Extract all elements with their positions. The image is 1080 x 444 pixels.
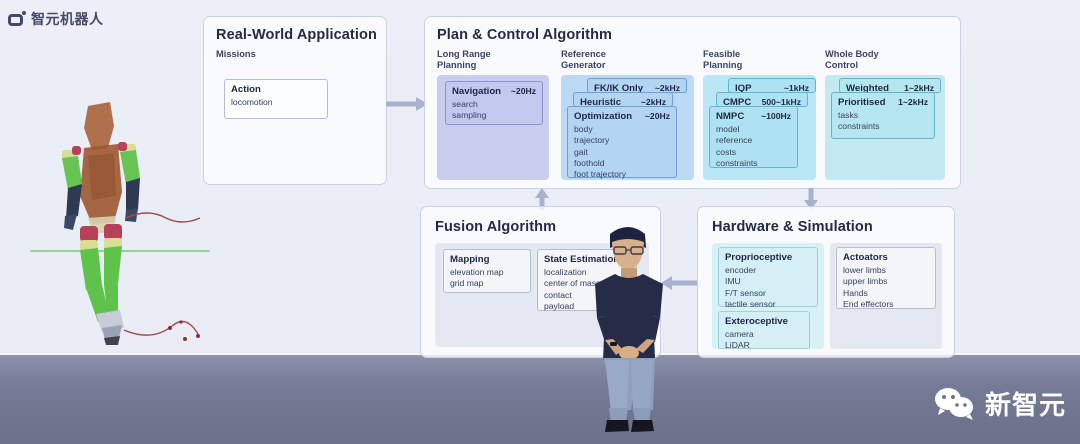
plan-control-title: Plan & Control Algorithm	[437, 27, 612, 43]
card-nmpc[interactable]: NMPC ~100Hz model reference costs constr…	[709, 106, 798, 168]
card-mapping-items: elevation map grid map	[450, 267, 524, 290]
card-action[interactable]: Action locomotion	[224, 79, 328, 119]
col-reference-label-l1: Reference	[561, 49, 606, 60]
card-exteroceptive[interactable]: Exteroceptive camera LiDAR	[718, 311, 810, 349]
col-feasible-label: Feasible Planning	[703, 49, 742, 71]
col-whole-body-label-l1: Whole Body	[825, 49, 879, 60]
card-exteroceptive-title: Exteroceptive	[725, 316, 788, 327]
card-action-title: Action	[231, 84, 261, 95]
hardware-title: Hardware & Simulation	[712, 219, 873, 235]
card-optimization-item: trajectory	[574, 135, 670, 146]
card-proprioceptive-item: F/T sensor	[725, 288, 811, 299]
col-reference-label-l2: Generator	[561, 60, 606, 71]
card-navigation-item: search	[452, 99, 536, 110]
panel-plan-control-algorithm: Plan & Control Algorithm Long Range Plan…	[424, 16, 961, 189]
presenter-person	[583, 222, 679, 437]
card-mapping-item: grid map	[450, 278, 524, 289]
card-exteroceptive-item: camera	[725, 329, 803, 340]
card-fkik-only[interactable]: FK/IK Only ~2kHz	[587, 78, 687, 93]
col-long-range-label-l1: Long Range	[437, 49, 491, 60]
card-action-item: locomotion	[231, 97, 321, 108]
card-optimization-items: body trajectory gait foothold foot traje…	[574, 124, 670, 181]
card-exteroceptive-item: LiDAR	[725, 340, 803, 351]
card-actoators-item: lower limbs	[843, 265, 929, 276]
card-nmpc-title: NMPC	[716, 111, 744, 122]
card-proprioceptive-item: IMU	[725, 276, 811, 287]
card-nmpc-item: model	[716, 124, 791, 135]
card-mapping-title: Mapping	[450, 254, 489, 265]
card-mapping-item: elevation map	[450, 267, 524, 278]
card-proprioceptive-title: Proprioceptive	[725, 252, 792, 263]
card-prioritised-title: Prioritised	[838, 97, 885, 108]
card-optimization[interactable]: Optimization ~20Hz body trajectory gait …	[567, 106, 677, 178]
card-proprioceptive-item: tactile sensor	[725, 299, 811, 310]
watermark-text: 新智元	[985, 385, 1066, 422]
card-navigation-freq: ~20Hz	[511, 86, 536, 96]
card-actoators-item: End effectors	[843, 299, 929, 310]
card-actoators-item: upper limbs	[843, 276, 929, 287]
agibot-logo-icon	[8, 11, 25, 27]
card-heuristic[interactable]: Heuristic ~2kHz	[573, 92, 673, 107]
panel-real-world-application: Real-World Application Missions Action l…	[203, 16, 387, 185]
col-whole-body-label-l2: Control	[825, 60, 879, 71]
card-navigation[interactable]: Navigation ~20Hz search sampling	[445, 81, 543, 125]
card-nmpc-item: costs	[716, 147, 791, 158]
card-prioritised-freq: 1~2kHz	[898, 97, 928, 107]
card-actoators-title: Actoators	[843, 252, 888, 263]
card-optimization-title: Optimization	[574, 111, 632, 122]
card-optimization-freq: ~20Hz	[645, 111, 670, 121]
col-long-range-label: Long Range Planning	[437, 49, 491, 71]
card-navigation-title: Navigation	[452, 86, 501, 97]
card-prioritised-item: constraints	[838, 121, 928, 132]
brand-logo: 智元机器人	[8, 9, 104, 29]
robot-simulation-figure	[48, 100, 208, 345]
card-optimization-item: foot trajectory	[574, 169, 670, 180]
col-feasible-label-l2: Planning	[703, 60, 742, 71]
card-actoators[interactable]: Actoators lower limbs upper limbs Hands …	[836, 247, 936, 309]
wechat-icon	[934, 387, 976, 421]
watermark: 新智元	[934, 385, 1066, 422]
card-nmpc-freq: ~100Hz	[761, 111, 791, 121]
card-prioritised-items: tasks constraints	[838, 110, 928, 133]
card-optimization-item: foothold	[574, 158, 670, 169]
card-proprioceptive-item: encoder	[725, 265, 811, 276]
card-cmpc[interactable]: CMPC 500~1kHz	[716, 92, 808, 107]
panel-hardware-simulation: Hardware & Simulation Proprioceptive enc…	[697, 206, 955, 358]
col-feasible-label-l1: Feasible	[703, 49, 742, 60]
col-reference-label: Reference Generator	[561, 49, 606, 71]
card-nmpc-item: reference	[716, 135, 791, 146]
arrow-realworld-to-plan	[386, 96, 428, 112]
real-world-subtitle: Missions	[216, 49, 256, 60]
stage-floor	[0, 355, 1080, 444]
fusion-title: Fusion Algorithm	[435, 219, 556, 235]
card-proprioceptive-items: encoder IMU F/T sensor tactile sensor	[725, 265, 811, 310]
card-prioritised[interactable]: Prioritised 1~2kHz tasks constraints	[831, 92, 935, 139]
card-action-items: locomotion	[231, 97, 321, 108]
card-optimization-item: body	[574, 124, 670, 135]
card-navigation-items: search sampling	[452, 99, 536, 122]
card-nmpc-items: model reference costs constraints	[716, 124, 791, 169]
robot-svg	[48, 100, 208, 345]
card-iqp[interactable]: IQP ~1kHz	[728, 78, 816, 93]
card-actoators-items: lower limbs upper limbs Hands End effect…	[843, 265, 929, 310]
real-world-title: Real-World Application	[216, 27, 377, 43]
card-prioritised-item: tasks	[838, 110, 928, 121]
card-actoators-item: Hands	[843, 288, 929, 299]
col-whole-body-label: Whole Body Control	[825, 49, 879, 71]
card-navigation-item: sampling	[452, 110, 536, 121]
presenter-svg	[583, 222, 679, 437]
col-long-range-label-l2: Planning	[437, 60, 491, 71]
card-proprioceptive[interactable]: Proprioceptive encoder IMU F/T sensor ta…	[718, 247, 818, 307]
card-exteroceptive-items: camera LiDAR	[725, 329, 803, 352]
brand-name: 智元机器人	[31, 9, 104, 29]
card-mapping[interactable]: Mapping elevation map grid map	[443, 249, 531, 293]
card-nmpc-item: constraints	[716, 158, 791, 169]
card-optimization-item: gait	[574, 147, 670, 158]
card-weighted[interactable]: Weighted 1~2kHz	[839, 78, 941, 93]
